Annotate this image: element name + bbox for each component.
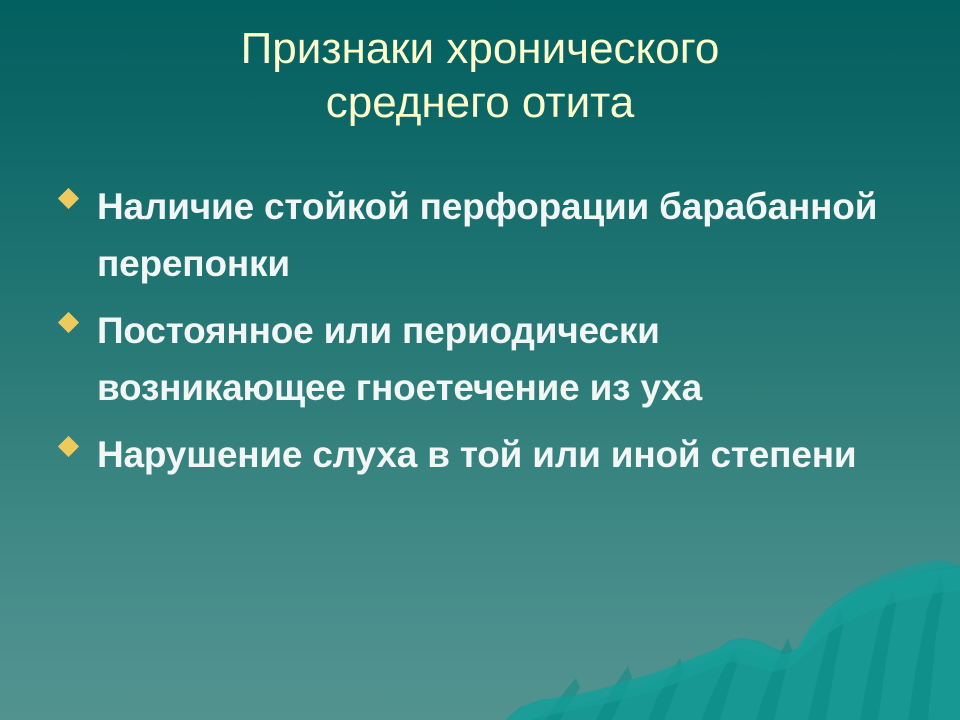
list-item-text: Наличие стойкой перфорации барабанной пе… [97, 178, 886, 292]
list-item: Постоянное или периодически возникающее … [56, 302, 886, 416]
list-item-text: Нарушение слуха в той или иной степени [97, 426, 886, 483]
list-item: Наличие стойкой перфорации барабанной пе… [56, 178, 886, 292]
presentation-slide: Признаки хронического среднего отита Нал… [0, 0, 960, 720]
slide-title-line-2: среднего отита [48, 76, 912, 130]
list-item-text: Постоянное или периодически возникающее … [97, 302, 886, 416]
list-item: Нарушение слуха в той или иной степени [56, 426, 886, 483]
diamond-bullet-icon [58, 436, 79, 457]
slide-body-list: Наличие стойкой перфорации барабанной пе… [56, 178, 886, 483]
diamond-bullet-icon [58, 312, 79, 333]
slide-title-line-1: Признаки хронического [48, 22, 912, 76]
diamond-bullet-icon [58, 188, 79, 209]
slide-title: Признаки хронического среднего отита [48, 22, 912, 130]
